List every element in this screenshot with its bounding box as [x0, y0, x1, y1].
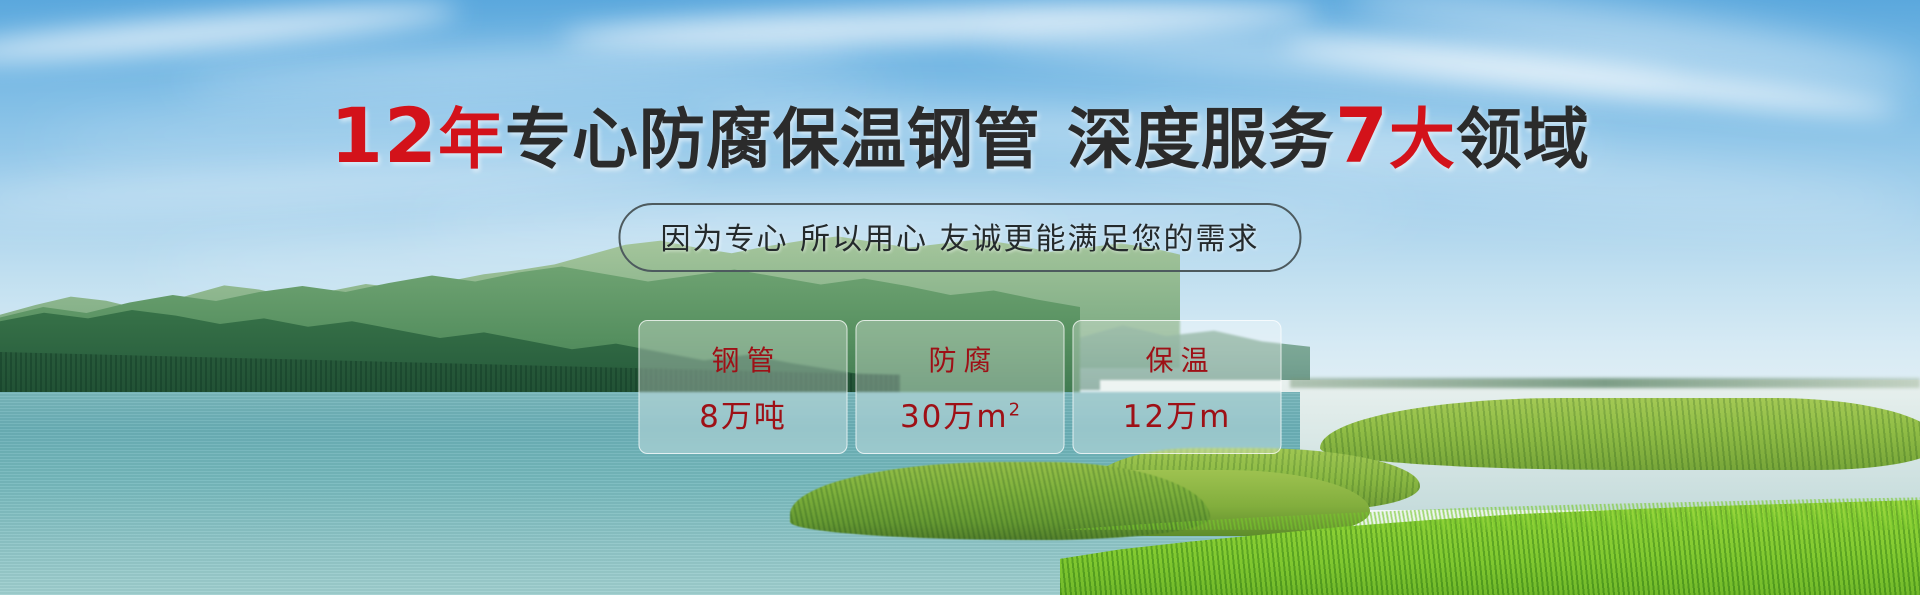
headline-years-number: 12	[330, 91, 438, 180]
stat-card-label: 保温	[1138, 339, 1215, 379]
stat-card-value: 8万吨	[699, 391, 787, 436]
headline-main-text: 专心防腐保温钢管	[505, 101, 1041, 178]
stat-card-insulation[interactable]: 保温 12万m	[1073, 320, 1282, 454]
stat-card-label: 钢管	[704, 339, 781, 379]
stat-value-text: 8万吨	[699, 399, 787, 435]
banner-headline: 12年专心防腐保温钢管深度服务7大领域	[0, 86, 1920, 182]
stat-value-text: 30万m	[900, 399, 1009, 435]
headline-fields-number: 7	[1335, 91, 1389, 180]
stat-card-label: 防腐	[921, 339, 998, 379]
grass-island	[1320, 398, 1920, 470]
stat-card-anticorrosion[interactable]: 防腐 30万m2	[856, 320, 1065, 454]
stat-value-text: 12万m	[1123, 399, 1232, 435]
headline-service-text: 深度服务	[1067, 101, 1335, 178]
stat-value-superscript: 2	[1009, 399, 1020, 420]
headline-fields-unit: 大	[1389, 101, 1456, 178]
far-shoreline	[1290, 378, 1920, 388]
headline-fields-text: 领域	[1456, 101, 1590, 178]
headline-years-unit: 年	[438, 101, 505, 178]
stat-card-group: 钢管 8万吨 防腐 30万m2 保温 12万m	[639, 320, 1282, 454]
promo-banner: 12年专心防腐保温钢管深度服务7大领域 因为专心 所以用心 友诚更能满足您的需求…	[0, 0, 1920, 595]
stat-card-steel-pipe[interactable]: 钢管 8万吨	[639, 320, 848, 454]
banner-subtitle-pill: 因为专心 所以用心 友诚更能满足您的需求	[618, 203, 1301, 272]
stat-card-value: 12万m	[1123, 391, 1232, 436]
stat-card-value: 30万m2	[900, 391, 1020, 436]
